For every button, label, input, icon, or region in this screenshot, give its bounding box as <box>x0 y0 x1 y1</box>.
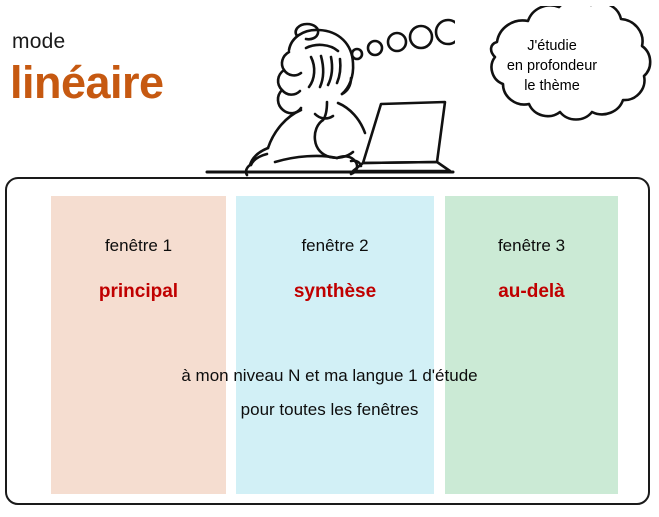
thought-bubble-line-1: J'étudie <box>477 36 627 56</box>
thought-bubble-line-2: en profondeur <box>477 56 627 76</box>
panel-2-value: synthèse <box>236 281 434 303</box>
panel-fenetre-1[interactable]: fenêtre 1 principal <box>51 196 226 494</box>
panel-fenetre-2[interactable]: fenêtre 2 synthèse <box>236 196 434 494</box>
panel-3-title: fenêtre 3 <box>445 236 618 256</box>
panel-2-title: fenêtre 2 <box>236 236 434 256</box>
panel-fenetre-3[interactable]: fenêtre 3 au-delà <box>445 196 618 494</box>
student-at-laptop-icon <box>205 2 455 178</box>
panel-3-value: au-delà <box>445 281 618 303</box>
panel-1-value: principal <box>51 281 226 303</box>
mode-value-title: linéaire <box>10 57 164 109</box>
header: mode linéaire <box>0 0 659 176</box>
panel-1-title: fenêtre 1 <box>51 236 226 256</box>
thought-bubble-line-3: le thème <box>477 76 627 96</box>
mode-label: mode <box>12 30 65 54</box>
mode-panels-container: fenêtre 1 principal fenêtre 2 synthèse f… <box>5 177 650 505</box>
thought-bubble-text: J'étudie en profondeur le thème <box>477 36 627 96</box>
thought-bubble: J'étudie en profondeur le thème <box>445 6 657 138</box>
